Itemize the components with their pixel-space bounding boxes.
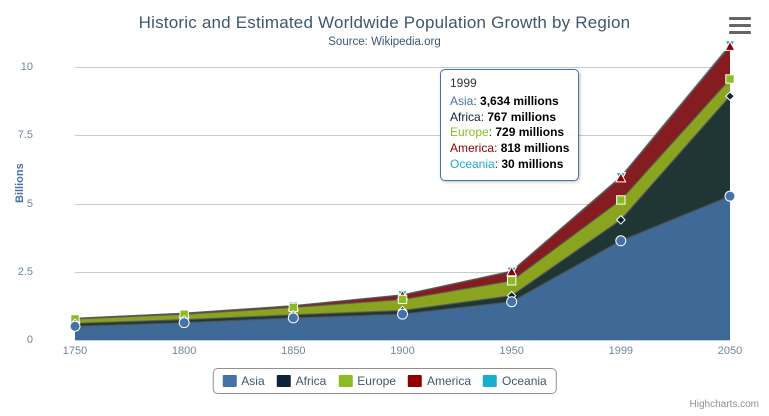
x-axis-tick-label: 1800 — [144, 345, 224, 357]
tooltip-series-value: 3,634 millions — [480, 94, 559, 108]
tooltip-separator: : — [473, 94, 480, 108]
tooltip-series-name: Asia — [450, 94, 473, 108]
legend-item-oceania[interactable]: Oceania — [483, 374, 547, 388]
tooltip-series-value: 30 millions — [501, 157, 563, 171]
legend-swatch-oceania — [483, 375, 497, 387]
data-point-asia[interactable] — [398, 309, 408, 319]
legend-item-europe[interactable]: Europe — [338, 374, 396, 388]
data-point-europe[interactable] — [398, 295, 406, 303]
legend-label: Europe — [357, 374, 396, 388]
legend-swatch-america — [408, 375, 422, 387]
y-axis-tick-label: 0 — [0, 334, 33, 346]
chart-legend: AsiaAfricaEuropeAmericaOceania — [212, 368, 556, 394]
data-point-asia[interactable] — [507, 297, 517, 307]
tooltip-row-asia: Asia: 3,634 millions — [450, 94, 569, 110]
data-point-europe[interactable] — [617, 196, 625, 204]
tooltip-series-name: America — [450, 141, 494, 155]
x-axis-tick-label: 1950 — [472, 345, 552, 357]
legend-swatch-asia — [222, 375, 236, 387]
tooltip-rows: Asia: 3,634 millionsAfrica: 767 millions… — [450, 94, 569, 173]
data-point-asia[interactable] — [70, 321, 80, 331]
tooltip-series-value: 767 millions — [487, 110, 556, 124]
tooltip-series-name: Africa — [450, 110, 481, 124]
tooltip-row-america: America: 818 millions — [450, 141, 569, 157]
data-point-asia[interactable] — [179, 318, 189, 328]
legend-item-asia[interactable]: Asia — [222, 374, 264, 388]
credits-label[interactable]: Highcharts.com — [690, 399, 759, 410]
data-point-asia[interactable] — [616, 236, 626, 246]
chart-title: Historic and Estimated Worldwide Populat… — [0, 13, 769, 33]
x-axis-tick-label: 1900 — [363, 345, 443, 357]
tooltip-series-name: Oceania — [450, 157, 495, 171]
tooltip-header: 1999 — [450, 76, 569, 92]
tooltip-separator: : — [494, 141, 501, 155]
y-axis-tick-label: 2.5 — [0, 266, 33, 278]
hamburger-bar — [729, 31, 751, 34]
chart-tooltip: 1999 Asia: 3,634 millionsAfrica: 767 mil… — [440, 69, 579, 181]
x-axis-tick-label: 1850 — [253, 345, 333, 357]
legend-item-america[interactable]: America — [408, 374, 471, 388]
x-axis-tick-label: 2050 — [690, 345, 769, 357]
data-point-europe[interactable] — [726, 75, 734, 83]
hamburger-bar — [729, 17, 751, 20]
plot-area — [75, 67, 730, 340]
data-point-asia[interactable] — [725, 191, 735, 201]
x-axis-tick-label: 1750 — [35, 345, 115, 357]
tooltip-row-europe: Europe: 729 millions — [450, 125, 569, 141]
tooltip-row-africa: Africa: 767 millions — [450, 110, 569, 126]
y-axis-tick-label: 10 — [0, 61, 33, 73]
legend-label: Oceania — [502, 374, 547, 388]
legend-label: Africa — [296, 374, 327, 388]
x-axis-tick-label: 1999 — [581, 345, 661, 357]
tooltip-series-value: 729 millions — [495, 125, 564, 139]
data-point-europe[interactable] — [507, 277, 515, 285]
y-axis-tick-label: 5 — [0, 198, 33, 210]
series-layer — [75, 67, 730, 340]
legend-label: Asia — [241, 374, 264, 388]
tooltip-series-name: Europe — [450, 125, 489, 139]
legend-swatch-africa — [277, 375, 291, 387]
legend-item-africa[interactable]: Africa — [277, 374, 327, 388]
legend-swatch-europe — [338, 375, 352, 387]
tooltip-row-oceania: Oceania: 30 millions — [450, 157, 569, 173]
chart-container: Historic and Estimated Worldwide Populat… — [0, 0, 769, 416]
y-axis-tick-label: 7.5 — [0, 129, 33, 141]
data-point-asia[interactable] — [288, 313, 298, 323]
x-axis-line — [75, 340, 730, 341]
tooltip-series-value: 818 millions — [501, 141, 570, 155]
hamburger-bar — [729, 24, 751, 27]
legend-label: America — [427, 374, 471, 388]
hamburger-menu-icon[interactable] — [729, 17, 751, 34]
chart-subtitle: Source: Wikipedia.org — [0, 36, 769, 48]
